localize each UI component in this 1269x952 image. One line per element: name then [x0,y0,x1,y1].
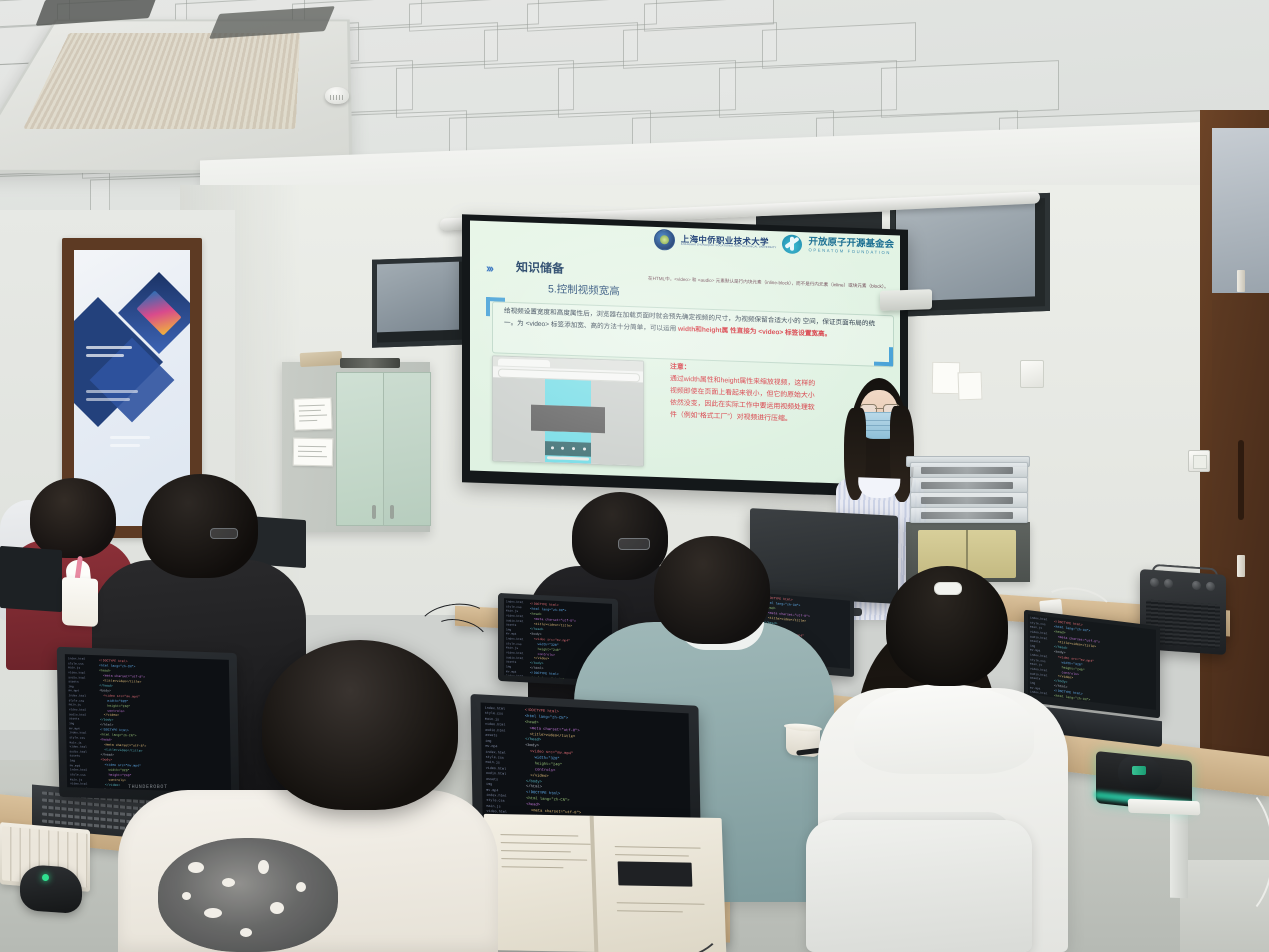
shirt-graphic-print [158,838,338,952]
student-head [30,478,116,558]
volume-icon [561,447,564,450]
laptop-thunderobot-screen: index.html style.css main.js video.html … [65,654,231,793]
hair-tie [934,582,962,595]
door-handle[interactable] [1238,440,1244,520]
slide-logo-row: 上海中侨职业技术大学 SHANGHAI ZHONGQIAO VOCATIONAL… [654,229,894,258]
cabinet-door-left[interactable] [336,372,384,526]
speaker-knob[interactable] [1206,582,1215,592]
white-cable-long [1180,780,1269,924]
drink-cup [62,577,98,627]
chevron-right-icon: ››› [486,261,492,275]
fullscreen-icon [583,447,586,450]
ceiling-tile [396,60,574,118]
hoodie-hood [854,684,1034,774]
door-panel[interactable] [1212,300,1269,760]
settings-icon [572,447,575,450]
slide-subtitle: 5.控制视频宽高 [548,281,620,299]
video-frame [531,405,605,434]
monitor-far-left [0,546,62,612]
student-head [572,492,668,580]
laptop-brand-label: THUNDEROBOT [128,784,168,790]
wall-notice [958,372,983,401]
note-body: 通过width属性和height属性来缩放视频，这样的视频即使在页面上看起来很小… [670,373,820,426]
slide-note-block: 注意： 通过width属性和height属性来缩放视频，这样的视频即使在页面上看… [670,361,820,426]
university-seal-icon [654,229,675,251]
classroom-scene: 上海中侨职业技术大学 SHANGHAI ZHONGQIAO VOCATIONAL… [0,0,1269,952]
door-hinge-icon [1237,270,1245,292]
cabinet-door-right[interactable] [383,372,431,526]
storage-box-stack [910,462,1028,522]
door-hinge-icon [1237,555,1245,577]
door-window-glass [1212,128,1269,293]
cabinet-handle[interactable] [390,505,394,519]
wall-notice [932,362,961,394]
back-window-right-glass [896,199,1035,301]
cabinet-handle[interactable] [372,505,376,519]
monitor-right-screen: index.html style.css main.js video.html … [1028,614,1156,710]
student-front-head [262,640,458,810]
glasses-icon [618,538,650,550]
student-head [142,474,258,578]
glasses-icon [210,528,238,539]
smoke-detector-icon [325,87,349,104]
speaker-knob[interactable] [1192,581,1201,591]
cabinet-top-box [300,351,343,367]
chair[interactable] [806,820,1032,952]
slide-note-top: 在HTML中，<video> 和 <audio> 元素默认是行内块元素（inli… [648,275,894,292]
ceiling-tile [719,60,897,118]
posted-notice [293,438,333,467]
posted-notice [293,397,332,430]
speaker-knob[interactable] [1150,578,1159,588]
openatom-logo-icon [782,234,802,254]
light-switch[interactable] [1188,450,1210,472]
video-controls-bar [545,441,591,457]
book-figure-block [618,861,693,886]
mouse-led-icon [42,874,49,881]
corner-bracket-icon [874,347,893,367]
air-conditioner-grille [23,33,300,129]
ceiling-tile [558,60,736,118]
body-line-3: 性直接为 <video> 标签设置宽高。 [730,328,831,339]
video-top-band [545,379,591,407]
razer-logo-icon [1132,766,1146,775]
back-window-left-glass [377,262,459,333]
ceiling-projector [880,289,932,311]
speaker-knob[interactable] [1164,579,1173,589]
browser-screenshot [492,355,644,466]
slide-title: 知识储备 [516,258,564,277]
corner-bracket-icon [486,297,505,317]
wall-socket[interactable] [1020,360,1044,388]
play-icon [551,446,554,449]
cabinet-top-items [340,358,400,368]
body-highlight-1: width和height属 [678,326,728,335]
ceiling-tile [881,60,1059,118]
browser-viewport [493,377,643,465]
student-head [654,536,770,644]
